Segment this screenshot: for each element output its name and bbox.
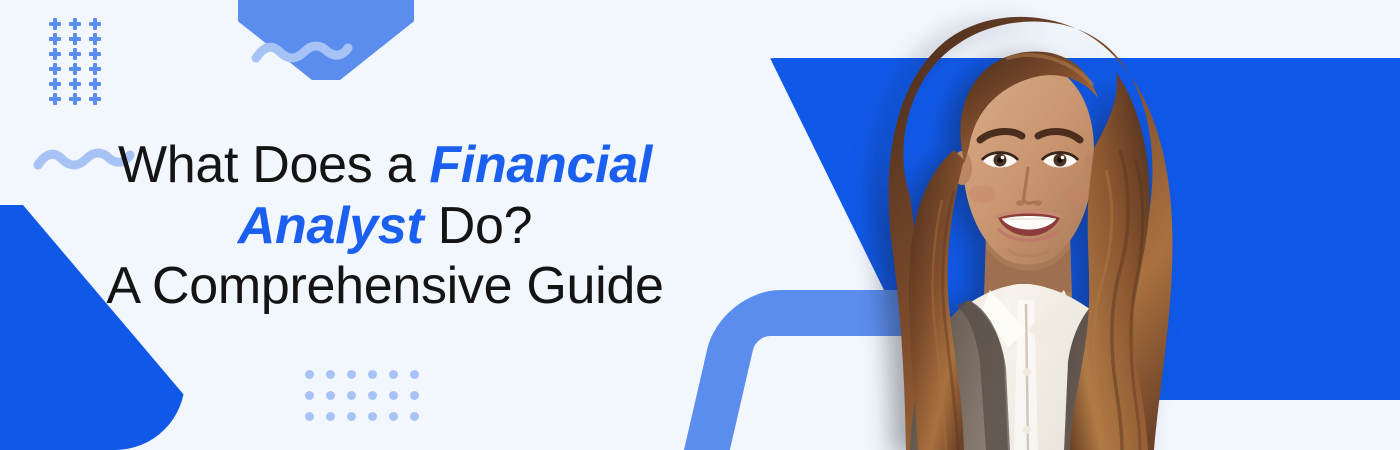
plus-icon: [88, 78, 108, 93]
dot-icon: [326, 412, 335, 421]
dot-icon: [347, 391, 356, 400]
plus-icon: [68, 63, 88, 78]
banner-headline: What Does a Financial Analyst Do? A Comp…: [70, 135, 700, 317]
plus-grid-decoration: [48, 18, 108, 108]
plus-icon: [68, 18, 88, 33]
plus-icon: [88, 93, 108, 108]
headline-accent-financial: Financial: [429, 136, 652, 194]
eye-right-glint: [1061, 156, 1065, 160]
dot-icon: [347, 370, 356, 379]
headline-line1-plain: What Does a: [118, 136, 429, 194]
plus-icon: [48, 78, 68, 93]
dot-icon: [389, 412, 398, 421]
dot-icon: [347, 412, 356, 421]
plus-icon: [68, 78, 88, 93]
dot-icon: [368, 391, 377, 400]
plus-icon: [48, 93, 68, 108]
dot-icon: [410, 391, 419, 400]
cheek-left: [968, 185, 996, 203]
dot-icon: [305, 370, 314, 379]
dot-icon: [410, 412, 419, 421]
headline-line-1: What Does a Financial: [70, 135, 700, 196]
dot-icon: [368, 370, 377, 379]
headline-accent-analyst: Analyst: [238, 197, 424, 255]
headline-line2-plain: Do?: [424, 197, 533, 255]
dot-icon: [305, 391, 314, 400]
headline-line-3: A Comprehensive Guide: [70, 256, 700, 317]
plus-icon: [48, 33, 68, 48]
eye-left-glint: [1001, 156, 1005, 160]
cheek-right: [1062, 185, 1090, 203]
plus-icon: [68, 33, 88, 48]
dot-icon: [389, 391, 398, 400]
page-banner: What Does a Financial Analyst Do? A Comp…: [0, 0, 1400, 450]
shirt-button: [1023, 426, 1031, 434]
plus-icon: [68, 48, 88, 63]
plus-icon: [88, 63, 108, 78]
dot-icon: [305, 412, 314, 421]
plus-icon: [88, 48, 108, 63]
dot-grid-decoration: [305, 370, 431, 433]
headline-line-2: Analyst Do?: [70, 196, 700, 257]
nostril-left: [1016, 200, 1024, 205]
shirt-button: [1023, 368, 1031, 376]
nostril-right: [1034, 200, 1042, 205]
plus-icon: [48, 18, 68, 33]
dot-icon: [368, 412, 377, 421]
plus-icon: [68, 93, 88, 108]
dot-icon: [389, 370, 398, 379]
plus-icon: [88, 33, 108, 48]
businesswoman-portrait-image: [858, 0, 1188, 450]
plus-icon: [48, 48, 68, 63]
plus-icon: [48, 63, 68, 78]
dot-icon: [326, 391, 335, 400]
dot-icon: [410, 370, 419, 379]
plus-icon: [88, 18, 108, 33]
dot-icon: [326, 370, 335, 379]
wave-squiggle-icon: [250, 36, 354, 75]
